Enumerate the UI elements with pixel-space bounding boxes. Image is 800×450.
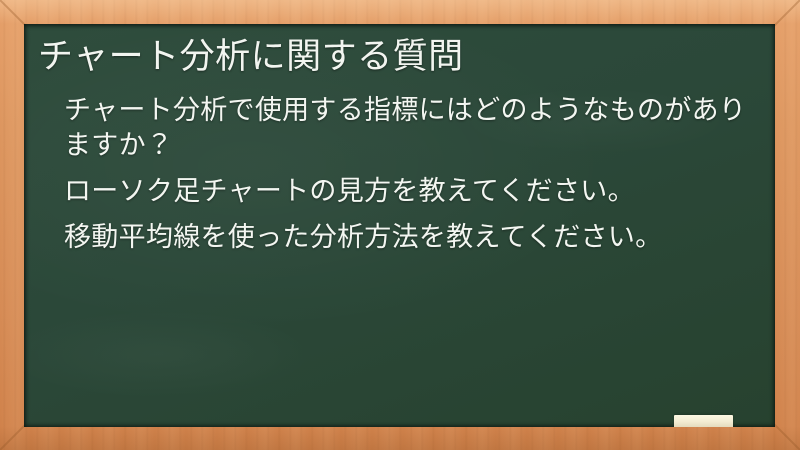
question-list: チャート分析で使用する指標にはどのようなものがありますか？ ローソク足チャートの… — [32, 93, 753, 255]
chalk-stick-icon — [674, 415, 733, 427]
chalkboard-slide: チャート分析に関する質問 チャート分析で使用する指標にはどのようなものがあります… — [0, 0, 800, 450]
page-title: チャート分析に関する質問 — [32, 34, 753, 80]
board-content: チャート分析に関する質問 チャート分析で使用する指標にはどのようなものがあります… — [24, 24, 775, 427]
frame-bottom-rail — [0, 426, 800, 450]
frame-top-rail — [0, 0, 800, 24]
list-item: 移動平均線を使った分析方法を教えてください。 — [64, 220, 753, 255]
list-item: ローソク足チャートの見方を教えてください。 — [64, 174, 753, 209]
list-item: チャート分析で使用する指標にはどのようなものがありますか？ — [64, 93, 753, 163]
chalkboard-surface: チャート分析に関する質問 チャート分析で使用する指標にはどのようなものがあります… — [24, 24, 775, 427]
